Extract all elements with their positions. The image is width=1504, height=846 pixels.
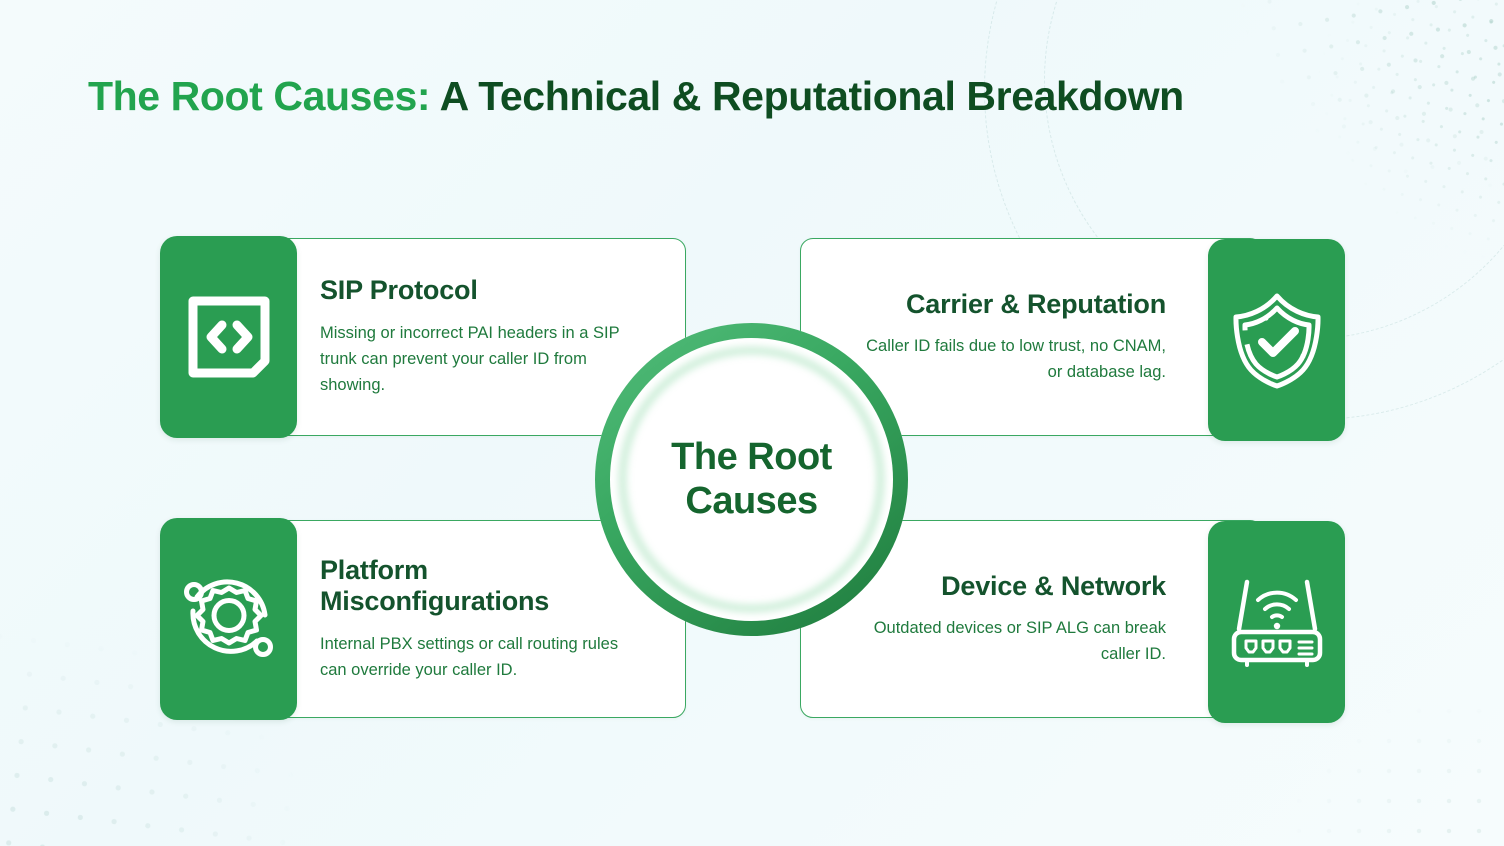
shield-check-icon (1229, 290, 1325, 390)
icon-panel-platform-misconfigurations (160, 518, 297, 720)
card-title: Carrier & Reputation (906, 289, 1166, 321)
code-brackets-icon (183, 291, 275, 383)
page-title: The Root Causes: A Technical & Reputatio… (88, 72, 1184, 121)
infographic-canvas: The Root Causes: A Technical & Reputatio… (0, 0, 1504, 846)
router-wifi-icon (1225, 574, 1329, 670)
page-title-rest: A Technical & Reputational Breakdown (430, 73, 1184, 119)
card-description: Internal PBX settings or call routing ru… (320, 631, 620, 683)
card-title: SIP Protocol (320, 275, 478, 307)
icon-panel-device-network (1208, 521, 1345, 723)
card-title: Device & Network (941, 571, 1166, 603)
center-hub: The Root Causes (595, 323, 908, 636)
card-description: Outdated devices or SIP ALG can break ca… (866, 615, 1166, 667)
gear-orbit-icon (177, 569, 281, 669)
card-description: Missing or incorrect PAI headers in a SI… (320, 320, 620, 398)
icon-panel-carrier-reputation (1208, 239, 1345, 441)
card-description: Caller ID fails due to low trust, no CNA… (866, 333, 1166, 385)
icon-panel-sip-protocol (160, 236, 297, 438)
hub-label: The Root Causes (595, 323, 908, 636)
page-title-accent: The Root Causes: (88, 73, 430, 119)
